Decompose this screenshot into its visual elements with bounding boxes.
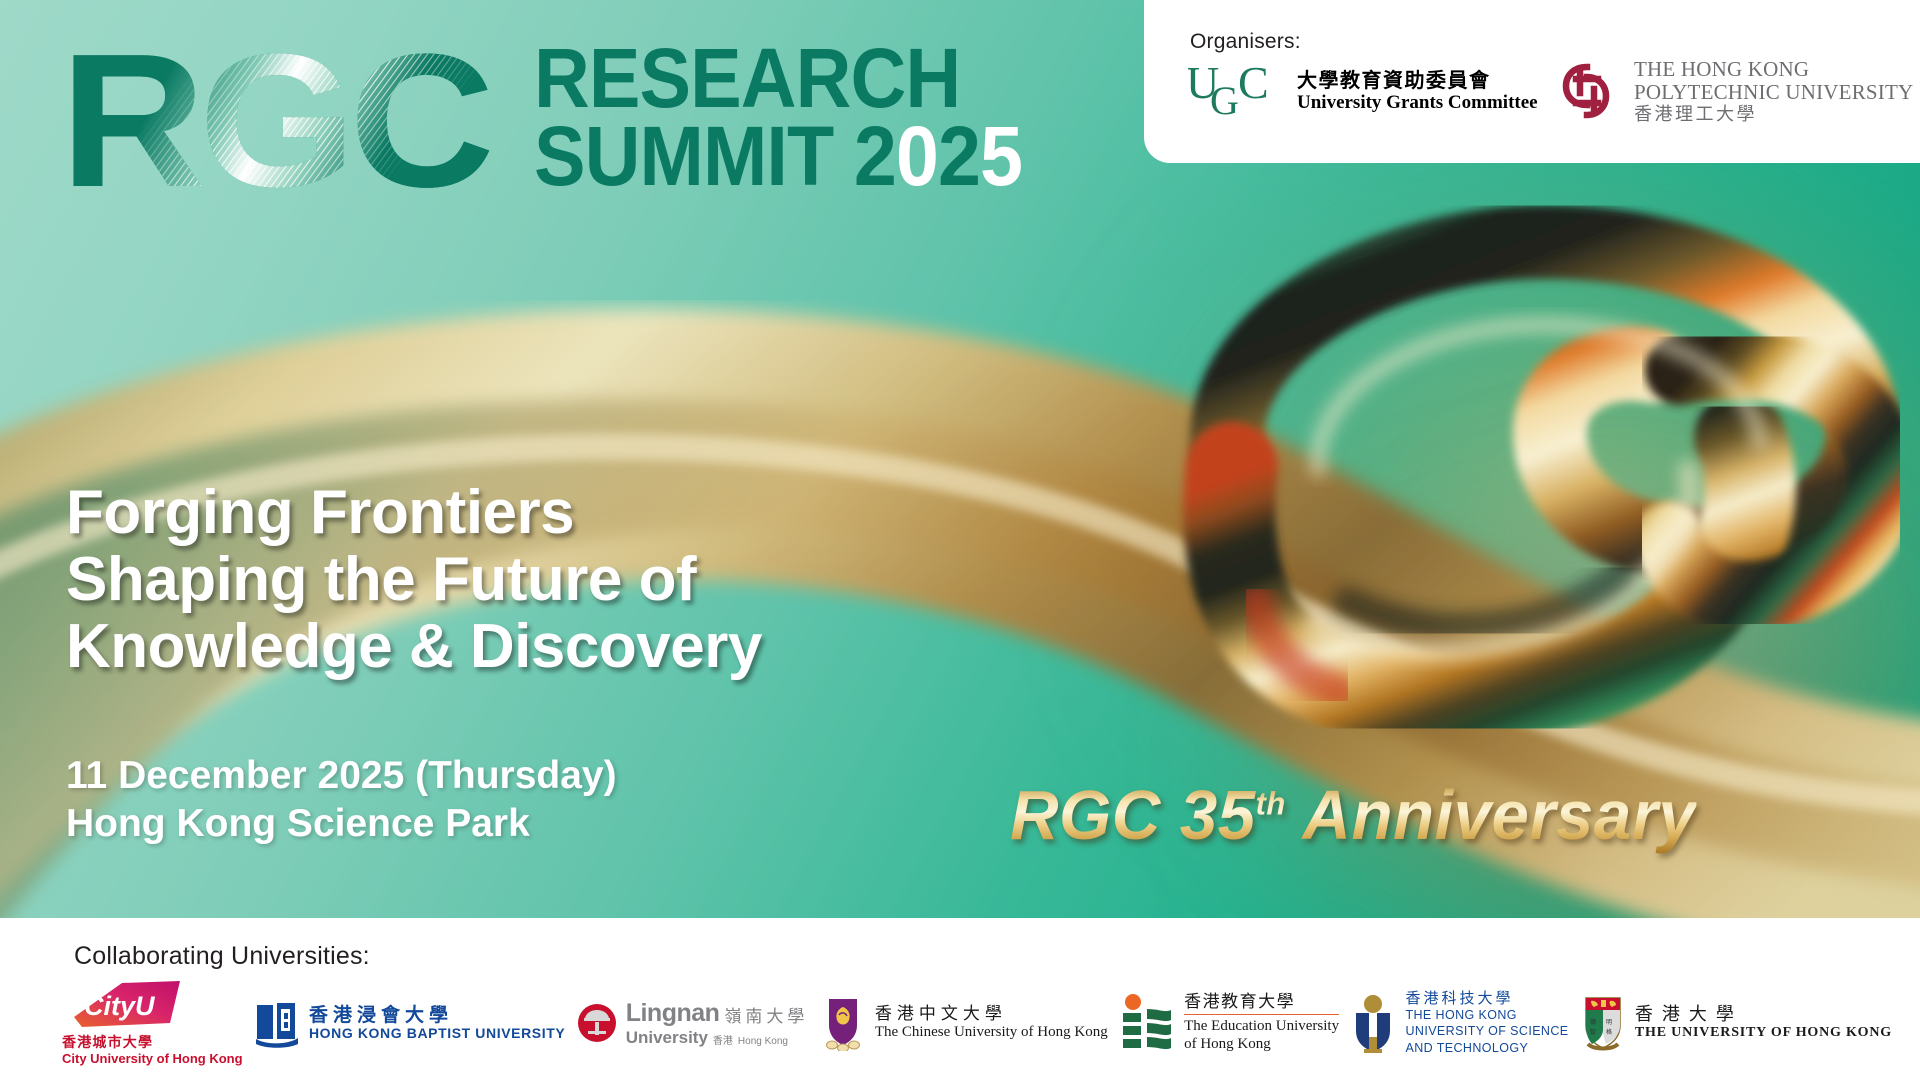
ugc-logo: U G C 大學教育資助委員會 University Grants Commit… — [1188, 62, 1538, 120]
year-digit-3: 2 — [938, 109, 980, 203]
hku-crest-icon: 德 明 智 格 — [1580, 994, 1626, 1052]
headline-line-3: Knowledge & Discovery — [66, 614, 762, 681]
lingnan-brand: Lingnan — [626, 999, 720, 1027]
university-logo-hku: 德 明 智 格 香港大學 THE UNIVERSITY OF HONG KONG — [1580, 981, 1892, 1065]
hkbu-book-icon — [254, 997, 300, 1049]
anniversary-number: 35 — [1180, 776, 1256, 854]
cityu-name-en: City University of Hong Kong — [62, 1052, 243, 1067]
eduhk-divider-rule — [1184, 1014, 1339, 1016]
eduhk-name-block: 香港教育大學 The Education University of Hong … — [1184, 993, 1339, 1054]
polyu-name-zh: 香港理工大學 — [1634, 105, 1913, 124]
lingnan-name-block: Lingnan 嶺南大學 University 香港 Hong Kong — [626, 999, 809, 1047]
headline-line-2: Shaping the Future of — [66, 547, 762, 614]
organisers-card: Organisers: U G C 大學教育資助委員會 University G… — [1144, 0, 1920, 163]
polyu-logo: THE HONG KONG POLYTECHNIC UNIVERSITY 香港理… — [1554, 58, 1913, 125]
hkust-name-en-line2: UNIVERSITY OF SCIENCE — [1405, 1023, 1568, 1039]
headline-line-1: Forging Frontiers — [66, 480, 762, 547]
svg-text:C: C — [1238, 62, 1269, 108]
event-title-block: RESEARCH SUMMIT 2025 — [534, 42, 1065, 192]
university-logo-cityu: CityU 香港城市大學 City University of Hong Kon… — [62, 981, 243, 1065]
polyu-knot-icon — [1554, 59, 1620, 123]
anniversary-suffix: Anniversary — [1286, 776, 1696, 854]
ugc-name-block: 大學教育資助委員會 University Grants Committee — [1297, 69, 1538, 113]
university-logo-eduhk: 香港教育大學 The Education University of Hong … — [1119, 981, 1339, 1065]
collaborating-universities-label: Collaborating Universities: — [74, 942, 370, 971]
svg-text:明: 明 — [1606, 1019, 1612, 1026]
hkbu-name-block: 香港浸會大學 HONG KONG BAPTIST UNIVERSITY — [309, 1005, 565, 1042]
polyu-name-block: THE HONG KONG POLYTECHNIC UNIVERSITY 香港理… — [1634, 58, 1913, 125]
year-digit-2: 0 — [896, 109, 938, 203]
cityu-mark-icon: CityU — [62, 979, 190, 1031]
svg-text:德: 德 — [1590, 1018, 1596, 1026]
rgc-logo-wordmark: RGC RGC RGC — [60, 34, 580, 224]
hkust-name-block: 香港科技大學 THE HONG KONG UNIVERSITY OF SCIEN… — [1405, 990, 1568, 1056]
cuhk-name-en: The Chinese University of Hong Kong — [875, 1024, 1108, 1041]
eduhk-mark-icon — [1119, 993, 1175, 1053]
lingnan-name-zh-small: 香港 — [713, 1036, 733, 1047]
university-logo-hkbu: 香港浸會大學 HONG KONG BAPTIST UNIVERSITY — [254, 981, 565, 1065]
hku-name-block: 香港大學 THE UNIVERSITY OF HONG KONG — [1635, 1005, 1892, 1041]
ugc-monogram-icon: U G C — [1188, 62, 1284, 120]
polyu-name-en-line1: THE HONG KONG — [1634, 58, 1913, 81]
lingnan-roundel-icon — [577, 1003, 617, 1043]
hkust-name-zh: 香港科技大學 — [1405, 990, 1568, 1007]
cuhk-name-zh: 香港中文大學 — [875, 1005, 1108, 1024]
footer-bar: Collaborating Universities: — [0, 918, 1920, 1080]
title-line-research: RESEARCH — [534, 42, 1022, 114]
polyu-name-en-line2: POLYTECHNIC UNIVERSITY — [1634, 81, 1913, 104]
cool-glow-accent — [1360, 430, 1880, 830]
lingnan-name-zh: 嶺南大學 — [724, 1008, 808, 1027]
ugc-name-en: University Grants Committee — [1297, 92, 1538, 113]
research-summit-banner: RGC RGC RGC RESEARCH SUMMIT 2025 Forging… — [0, 0, 1920, 1080]
svg-text:RGC: RGC — [60, 34, 490, 224]
cuhk-crest-icon — [820, 995, 866, 1051]
anniversary-ordinal: th — [1256, 786, 1286, 822]
hkbu-name-zh: 香港浸會大學 — [309, 1005, 565, 1026]
title-word-summit: SUMMIT — [534, 109, 833, 203]
eduhk-name-zh: 香港教育大學 — [1184, 993, 1339, 1012]
svg-text:G: G — [1210, 78, 1239, 120]
hku-name-zh: 香港大學 — [1635, 1005, 1892, 1025]
title-line-summit-year: SUMMIT 2025 — [534, 120, 1022, 192]
event-venue: Hong Kong Science Park — [66, 800, 617, 848]
university-logo-lingnan: Lingnan 嶺南大學 University 香港 Hong Kong — [577, 981, 809, 1065]
svg-text:CityU: CityU — [84, 991, 156, 1021]
headline-text: Forging Frontiers Shaping the Future of … — [66, 480, 762, 681]
hku-name-en: THE UNIVERSITY OF HONG KONG — [1635, 1025, 1892, 1041]
organisers-label: Organisers: — [1190, 30, 1301, 54]
university-logo-cuhk: 香港中文大學 The Chinese University of Hong Ko… — [820, 981, 1108, 1065]
hkust-name-en-line1: THE HONG KONG — [1405, 1007, 1568, 1023]
eduhk-name-en-line1: The Education University — [1184, 1018, 1339, 1036]
lingnan-brand-2: University — [626, 1028, 708, 1047]
university-logo-hkust: 香港科技大學 THE HONG KONG UNIVERSITY OF SCIEN… — [1350, 981, 1568, 1065]
hkbu-name-en: HONG KONG BAPTIST UNIVERSITY — [309, 1026, 565, 1042]
cuhk-name-block: 香港中文大學 The Chinese University of Hong Ko… — [875, 1005, 1108, 1041]
anniversary-prefix: RGC — [1010, 776, 1180, 854]
cityu-name-block: CityU 香港城市大學 City University of Hong Kon… — [62, 979, 243, 1066]
event-date: 11 December 2025 (Thursday) — [66, 752, 617, 800]
lingnan-name-en: Hong Kong — [738, 1036, 788, 1047]
abstract-3d-loop-sculpture — [1080, 170, 1900, 730]
year-digit-4: 5 — [980, 109, 1022, 203]
ugc-name-zh: 大學教育資助委員會 — [1297, 69, 1538, 91]
event-details: 11 December 2025 (Thursday) Hong Kong Sc… — [66, 752, 617, 847]
year-digit-1: 2 — [854, 109, 896, 203]
university-logo-row: CityU 香港城市大學 City University of Hong Kon… — [62, 980, 1892, 1066]
cityu-name-zh: 香港城市大學 — [62, 1036, 243, 1052]
svg-text:智: 智 — [1590, 1028, 1596, 1036]
hkust-mark-icon — [1350, 993, 1396, 1053]
svg-text:格: 格 — [1606, 1028, 1612, 1036]
anniversary-lockup: RGC 35th Anniversary — [1010, 775, 1696, 855]
eduhk-name-en-line2: of Hong Kong — [1184, 1036, 1339, 1054]
hkust-name-en-line3: AND TECHNOLOGY — [1405, 1040, 1568, 1056]
